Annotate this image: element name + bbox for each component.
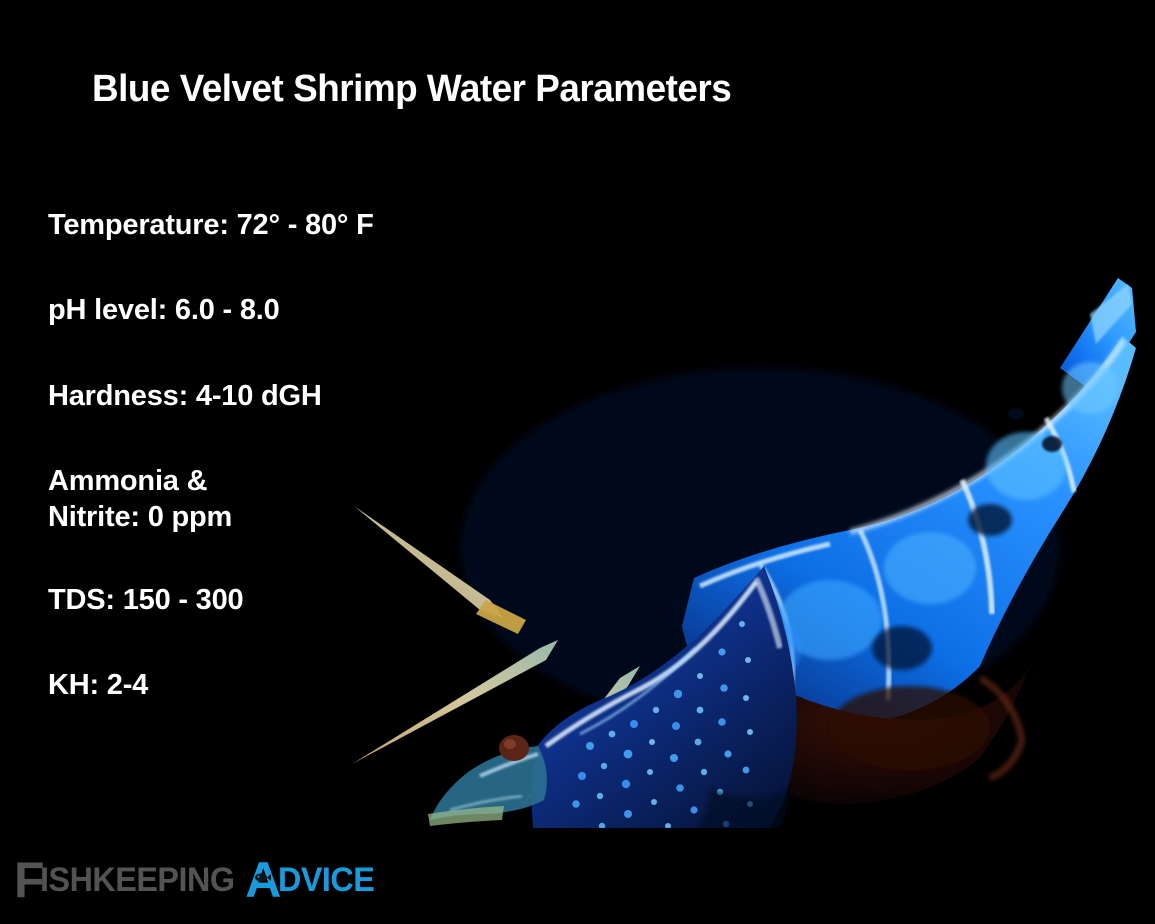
shrimp-ambient-glow <box>460 368 1060 728</box>
shrimp-rostrum <box>428 735 547 826</box>
param-temperature: Temperature: 72° - 80° F <box>48 208 518 243</box>
logo-word-advice: DVICE <box>278 863 374 897</box>
fish-icon <box>254 872 271 883</box>
shrimp-tail-fan <box>1060 278 1136 394</box>
logo-accent-letter-a-wrap: A <box>245 855 278 905</box>
carapace-abdomen-seam <box>756 578 780 648</box>
param-ammonia-nitrite: Ammonia & Nitrite: 0 ppm <box>48 464 518 535</box>
shrimp-ventral-mass <box>729 662 1032 804</box>
infographic-canvas: Blue Velvet Shrimp Water Parameters <box>0 0 1155 924</box>
logo-drop-cap-f: F <box>14 855 43 905</box>
param-tds: TDS: 150 - 300 <box>48 583 518 618</box>
fishkeeping-advice-watermark[interactable]: F ISHKEEPING A DVICE <box>14 852 380 908</box>
water-parameter-list: Temperature: 72° - 80° F pH level: 6.0 -… <box>48 208 518 704</box>
logo-word-fishkeeping: ISHKEEPING <box>40 863 234 897</box>
carapace-speckles <box>572 621 753 828</box>
shrimp-carapace <box>531 566 796 828</box>
page-title: Blue Velvet Shrimp Water Parameters <box>92 68 731 111</box>
param-ph-level: pH level: 6.0 - 8.0 <box>48 293 518 328</box>
shrimp-abdomen <box>682 336 1136 726</box>
param-hardness: Hardness: 4-10 dGH <box>48 379 518 414</box>
shrimp-eye <box>499 735 529 761</box>
param-kh: KH: 2-4 <box>48 668 518 703</box>
